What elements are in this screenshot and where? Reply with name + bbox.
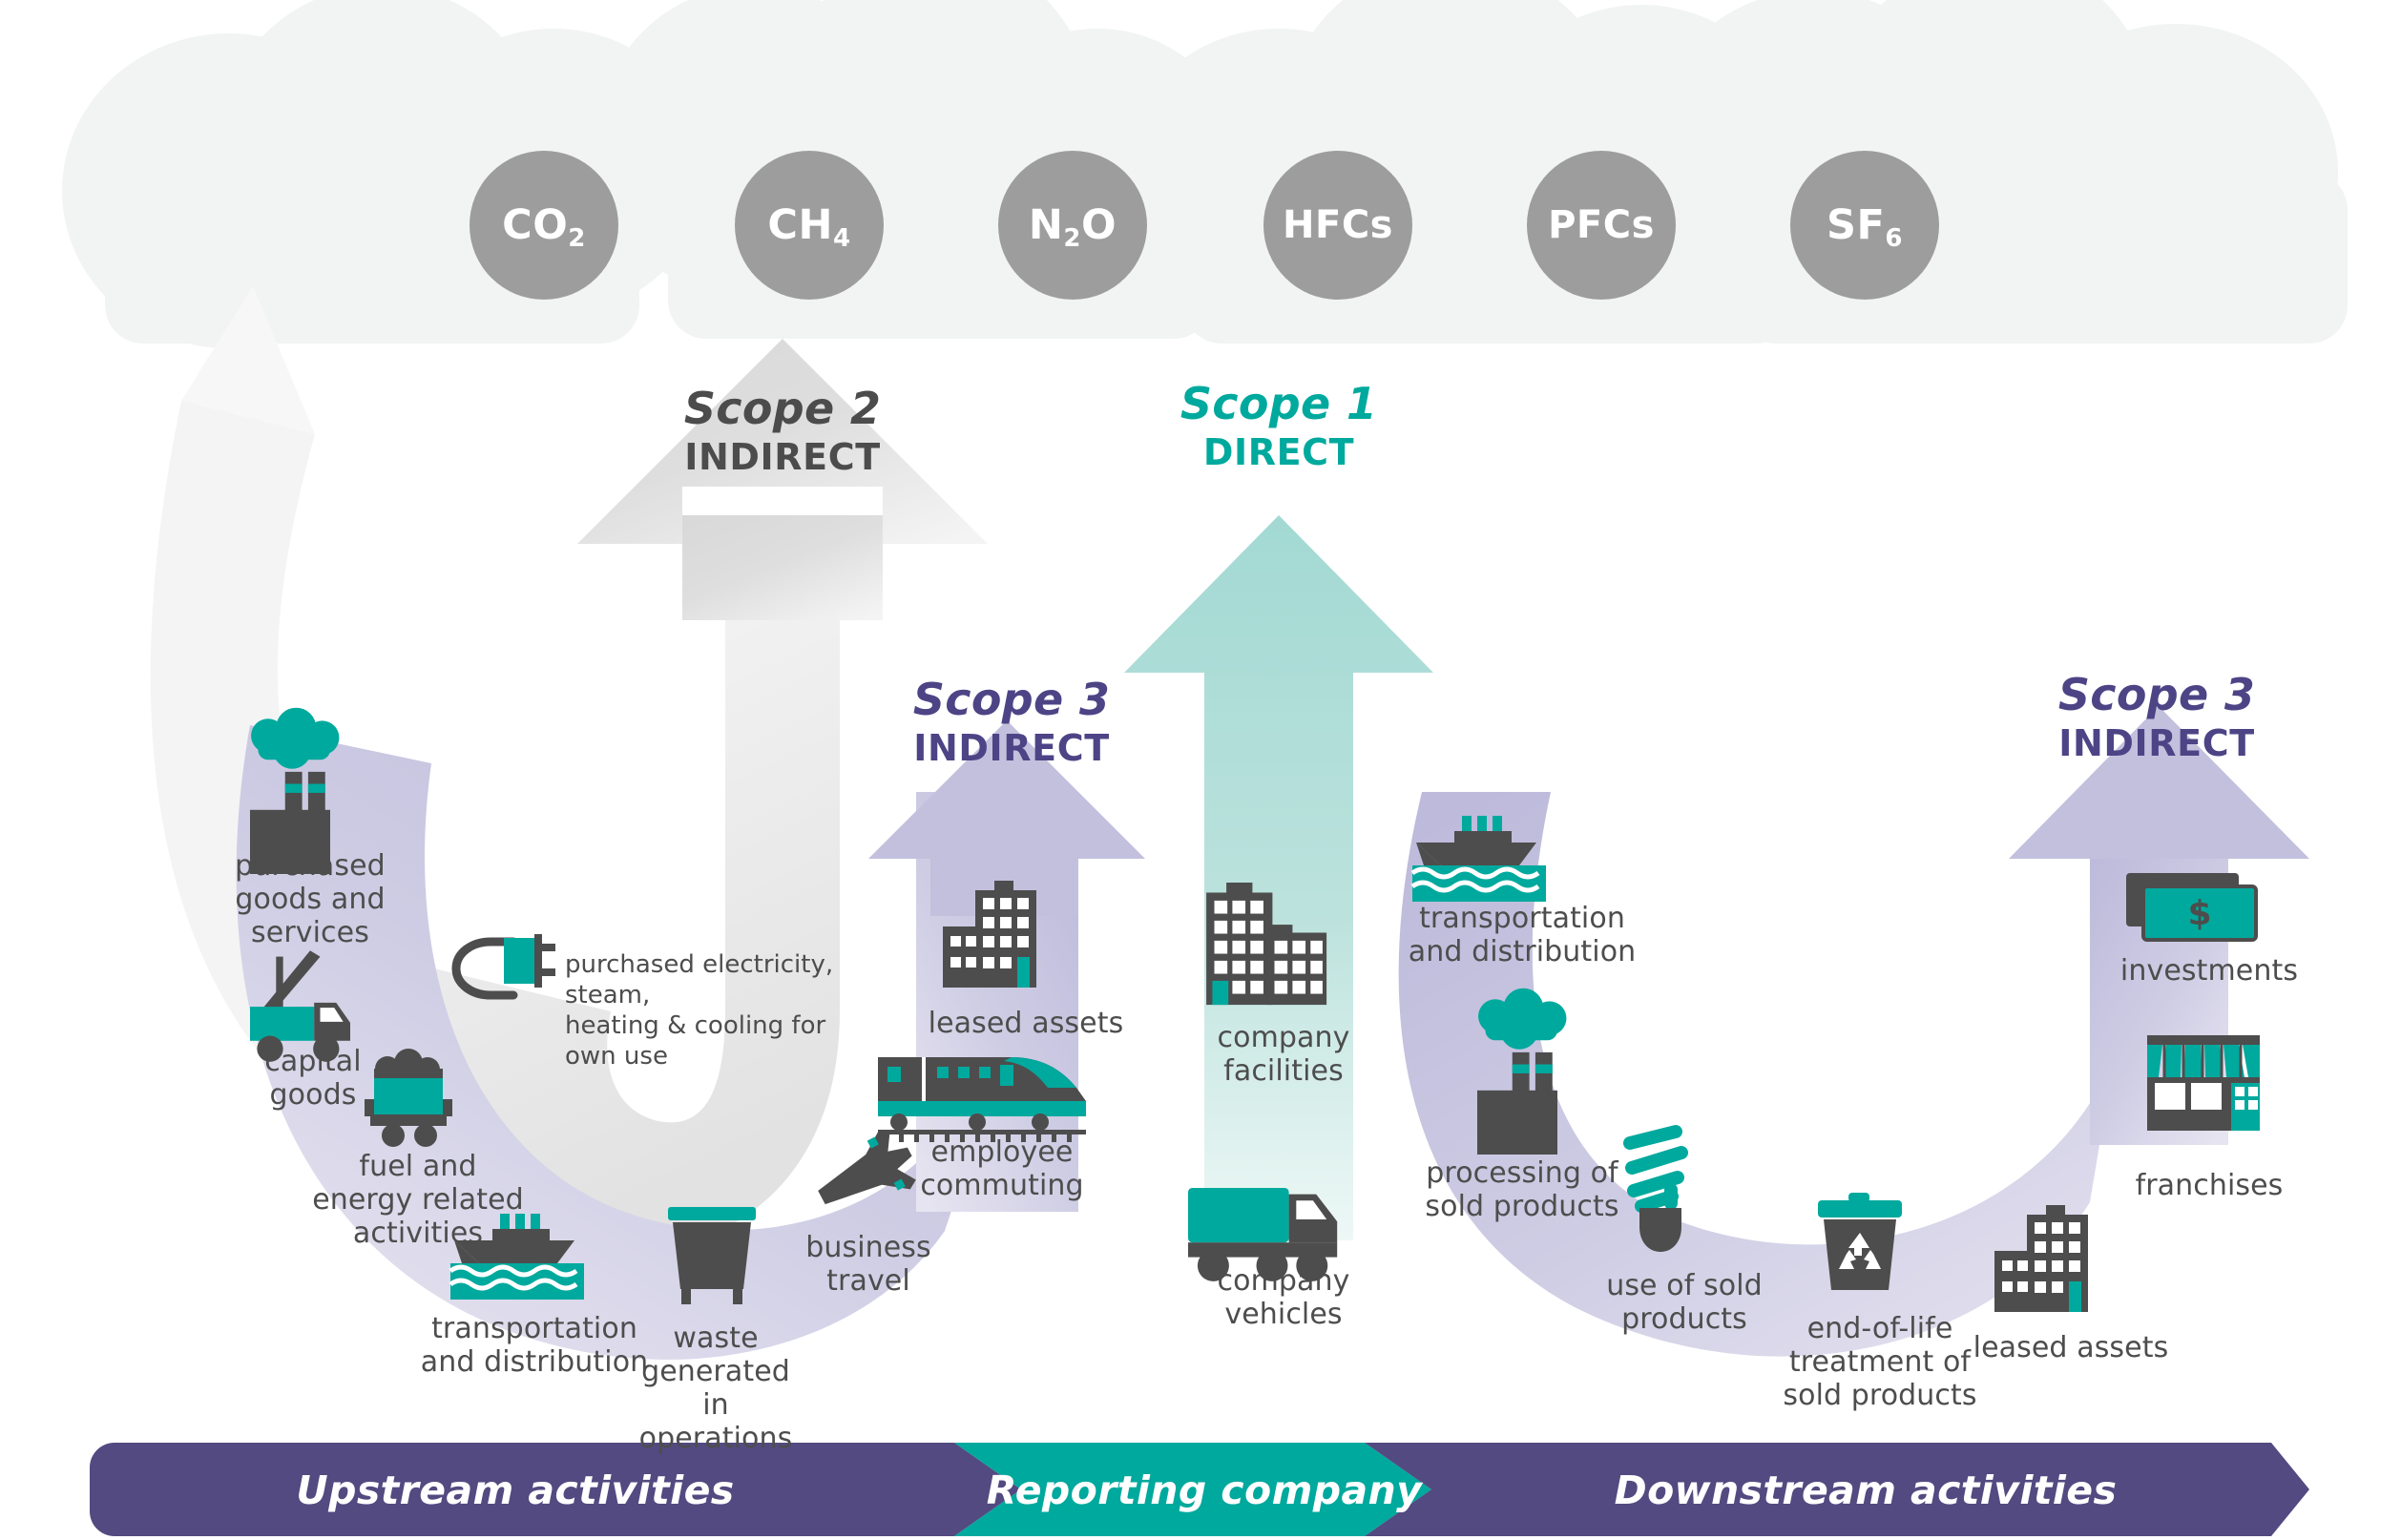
gas-label-n2o: N2O — [1029, 201, 1117, 249]
caption-use-of-sold-products: use of sold products — [1579, 1269, 1789, 1336]
caption-waste-generated-in-operations: waste generated in operations — [625, 1321, 806, 1455]
banner-label-reporting: Reporting company — [987, 1467, 1422, 1513]
banner-label-upstream: Upstream activities — [296, 1467, 734, 1513]
caption-downstream-transportation-and-distribution: transportation and distribution — [1403, 902, 1641, 968]
caption-company-facilities: company facilities — [1188, 1021, 1379, 1088]
scope3-downstream-heading: Scope 3 INDIRECT — [1994, 673, 2319, 761]
scope3-upstream-number: Scope 3 — [849, 677, 1174, 721]
scope2-kind: INDIRECT — [611, 439, 954, 475]
gas-label-pfcs: PFCs — [1548, 203, 1655, 247]
caption-upstream-leased-assets: leased assets — [921, 1007, 1131, 1040]
caption-purchased-goods-and-services: purchased goods and services — [215, 849, 406, 949]
cloud-band — [62, 0, 2348, 348]
scope3-downstream-kind: INDIRECT — [1994, 725, 2319, 761]
caption-downstream-leased-assets: leased assets — [1966, 1331, 2176, 1364]
caption-upstream-transportation-and-distribution: transportation and distribution — [415, 1312, 654, 1379]
scope1-number: Scope 1 — [1112, 382, 1446, 426]
scope3-upstream-kind: INDIRECT — [849, 730, 1174, 766]
caption-fuel-and-energy-related-activities: fuel and energy related activities — [303, 1150, 532, 1250]
scope1-heading: Scope 1 DIRECT — [1112, 382, 1446, 470]
caption-business-travel: business travel — [792, 1231, 945, 1298]
scope2-heading: Scope 2 INDIRECT — [611, 386, 954, 475]
gas-label-sf6: SF6 — [1827, 201, 1903, 249]
scope1-kind: DIRECT — [1112, 434, 1446, 470]
caption-company-vehicles: company vehicles — [1188, 1264, 1379, 1331]
gas-label-co2: CO2 — [502, 201, 586, 249]
gas-label-hfcs: HFCs — [1283, 203, 1393, 247]
scope1-arrow — [1124, 515, 1433, 1240]
scope2-number: Scope 2 — [611, 386, 954, 430]
caption-investments: investments — [2099, 954, 2319, 988]
svg-text:$: $ — [2187, 894, 2211, 933]
gas-label-ch4: CH4 — [767, 201, 850, 249]
caption-processing-of-sold-products: processing of sold products — [1417, 1156, 1627, 1223]
banner-label-downstream: Downstream activities — [1615, 1467, 2118, 1513]
banknotes-icon: $ — [2126, 873, 2256, 940]
recycle-bin-icon — [1818, 1193, 1902, 1290]
storefront-icon — [2147, 1035, 2260, 1131]
diagram-canvas: $ CO2 CH4 N2O HFCs PFCs SF6 Scope 2 INDI… — [0, 0, 2401, 1540]
scope3-upstream-heading: Scope 3 INDIRECT — [849, 677, 1174, 766]
caption-capital-goods: capital goods — [237, 1045, 389, 1112]
purchased-electricity-label: purchased electricity, steam, heating & … — [565, 949, 880, 1072]
caption-end-of-life-treatment-of-sold-products: end-of-life treatment of sold products — [1775, 1312, 1985, 1412]
caption-employee-commuting: employee commuting — [907, 1135, 1097, 1202]
caption-franchises: franchises — [2114, 1169, 2305, 1202]
scope3-downstream-number: Scope 3 — [1994, 673, 2319, 717]
